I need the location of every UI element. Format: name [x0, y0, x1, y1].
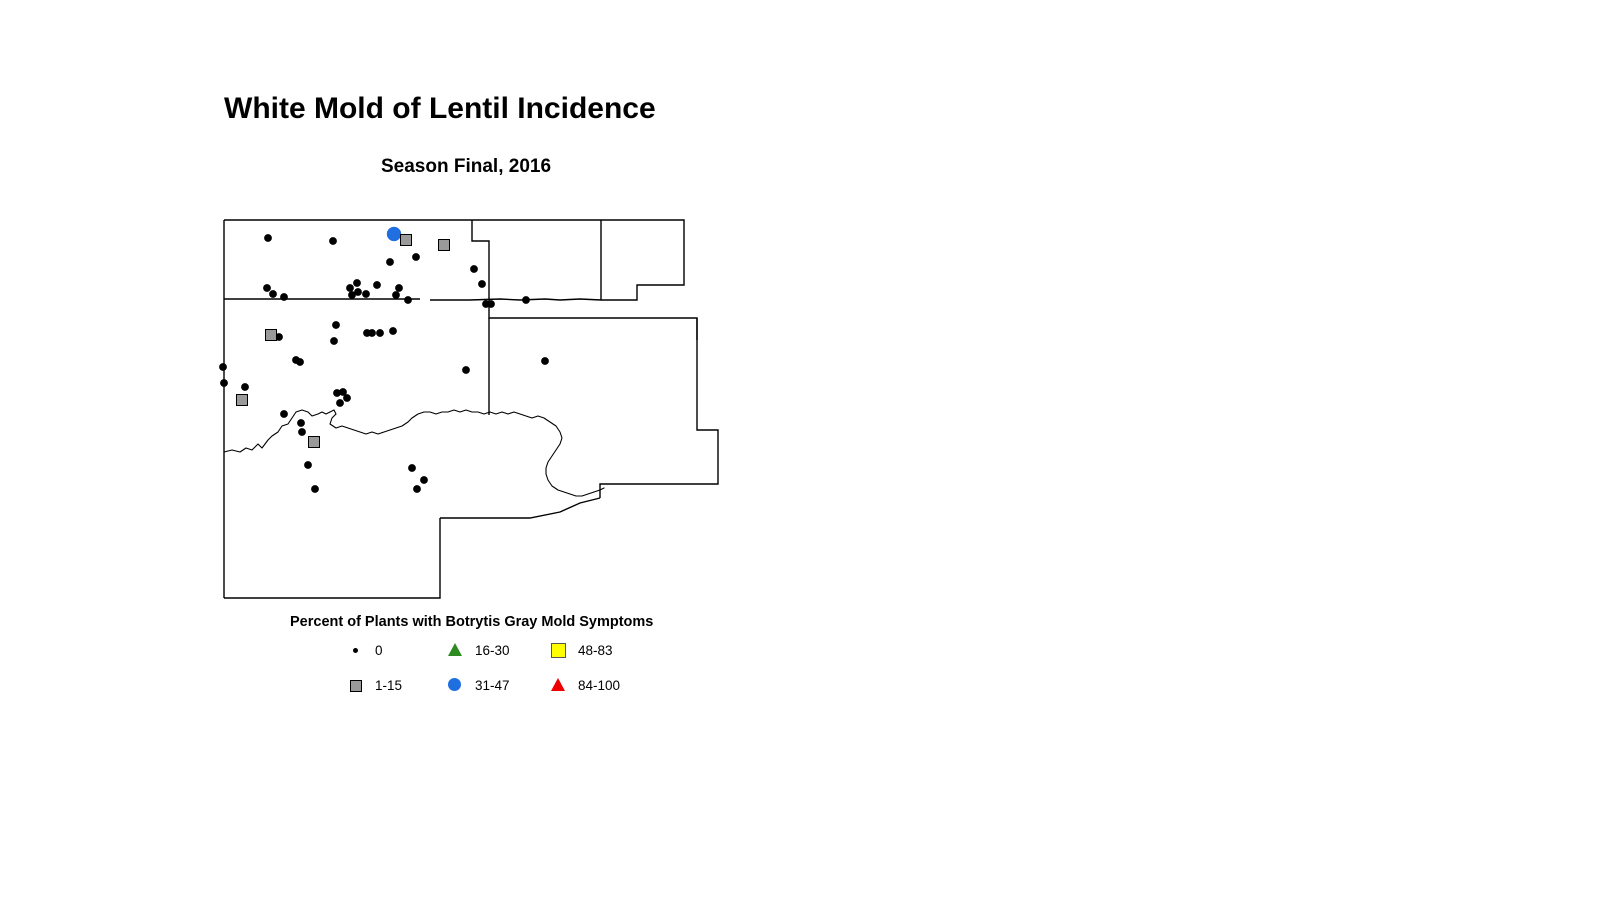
- data-point: [412, 253, 419, 260]
- figure-canvas: White Mold of Lentil Incidence Season Fi…: [0, 0, 1612, 900]
- legend-item-1[interactable]: 1-15: [345, 677, 402, 693]
- data-point: [292, 356, 299, 363]
- data-point: [280, 410, 287, 417]
- data-point: [376, 329, 383, 336]
- data-point: [439, 240, 450, 251]
- legend-label-4: 48-83: [578, 643, 613, 658]
- legend-item-0[interactable]: 0: [345, 642, 383, 658]
- data-point: [241, 383, 248, 390]
- data-point: [522, 296, 529, 303]
- data-point: [487, 300, 494, 307]
- data-point: [237, 395, 248, 406]
- data-point: [332, 321, 339, 328]
- data-point: [219, 363, 226, 370]
- data-point: [298, 428, 305, 435]
- gray-square-icon: [345, 677, 367, 693]
- snake-river-boundary: [224, 410, 604, 496]
- map-plot: [0, 0, 1612, 900]
- data-point: [329, 237, 336, 244]
- data-point: [404, 296, 411, 303]
- legend-label-1: 1-15: [375, 678, 402, 693]
- data-point: [368, 329, 375, 336]
- red-triangle-icon: [548, 677, 570, 693]
- data-point: [309, 437, 320, 448]
- yellow-square-icon: [548, 642, 570, 658]
- data-point: [304, 461, 311, 468]
- data-point: [297, 419, 304, 426]
- data-point: [266, 330, 277, 341]
- data-point: [387, 227, 401, 241]
- data-point: [264, 234, 271, 241]
- data-point: [362, 290, 369, 297]
- small-black-dot-icon: [345, 642, 367, 658]
- map-boundaries: [224, 220, 718, 598]
- legend-item-2[interactable]: 16-30: [445, 642, 510, 658]
- data-point: [311, 485, 318, 492]
- legend-item-5[interactable]: 84-100: [548, 677, 620, 693]
- data-point: [395, 284, 402, 291]
- legend-label-3: 31-47: [475, 678, 510, 693]
- legend-title: Percent of Plants with Botrytis Gray Mol…: [290, 614, 653, 630]
- legend-label-2: 16-30: [475, 643, 510, 658]
- data-point: [401, 235, 412, 246]
- data-point: [336, 399, 343, 406]
- data-point: [373, 281, 380, 288]
- legend-item-4[interactable]: 48-83: [548, 642, 613, 658]
- data-point: [330, 337, 337, 344]
- data-point: [392, 291, 399, 298]
- data-point: [353, 279, 360, 286]
- data-point: [478, 280, 485, 287]
- data-point: [420, 476, 427, 483]
- data-point: [220, 379, 227, 386]
- data-point: [343, 394, 350, 401]
- data-point: [386, 258, 393, 265]
- legend-item-3[interactable]: 31-47: [445, 677, 510, 693]
- green-triangle-icon: [445, 642, 467, 658]
- data-point: [389, 327, 396, 334]
- data-point: [408, 464, 415, 471]
- data-point: [462, 366, 469, 373]
- data-point: [346, 284, 353, 291]
- data-point: [541, 357, 548, 364]
- data-point: [413, 485, 420, 492]
- data-point: [263, 284, 270, 291]
- data-point: [470, 265, 477, 272]
- data-point: [269, 290, 276, 297]
- legend-label-0: 0: [375, 643, 383, 658]
- data-point: [280, 293, 287, 300]
- data-point: [348, 291, 355, 298]
- blue-circle-icon: [445, 677, 467, 693]
- legend-label-5: 84-100: [578, 678, 620, 693]
- data-point-layer: [219, 227, 548, 493]
